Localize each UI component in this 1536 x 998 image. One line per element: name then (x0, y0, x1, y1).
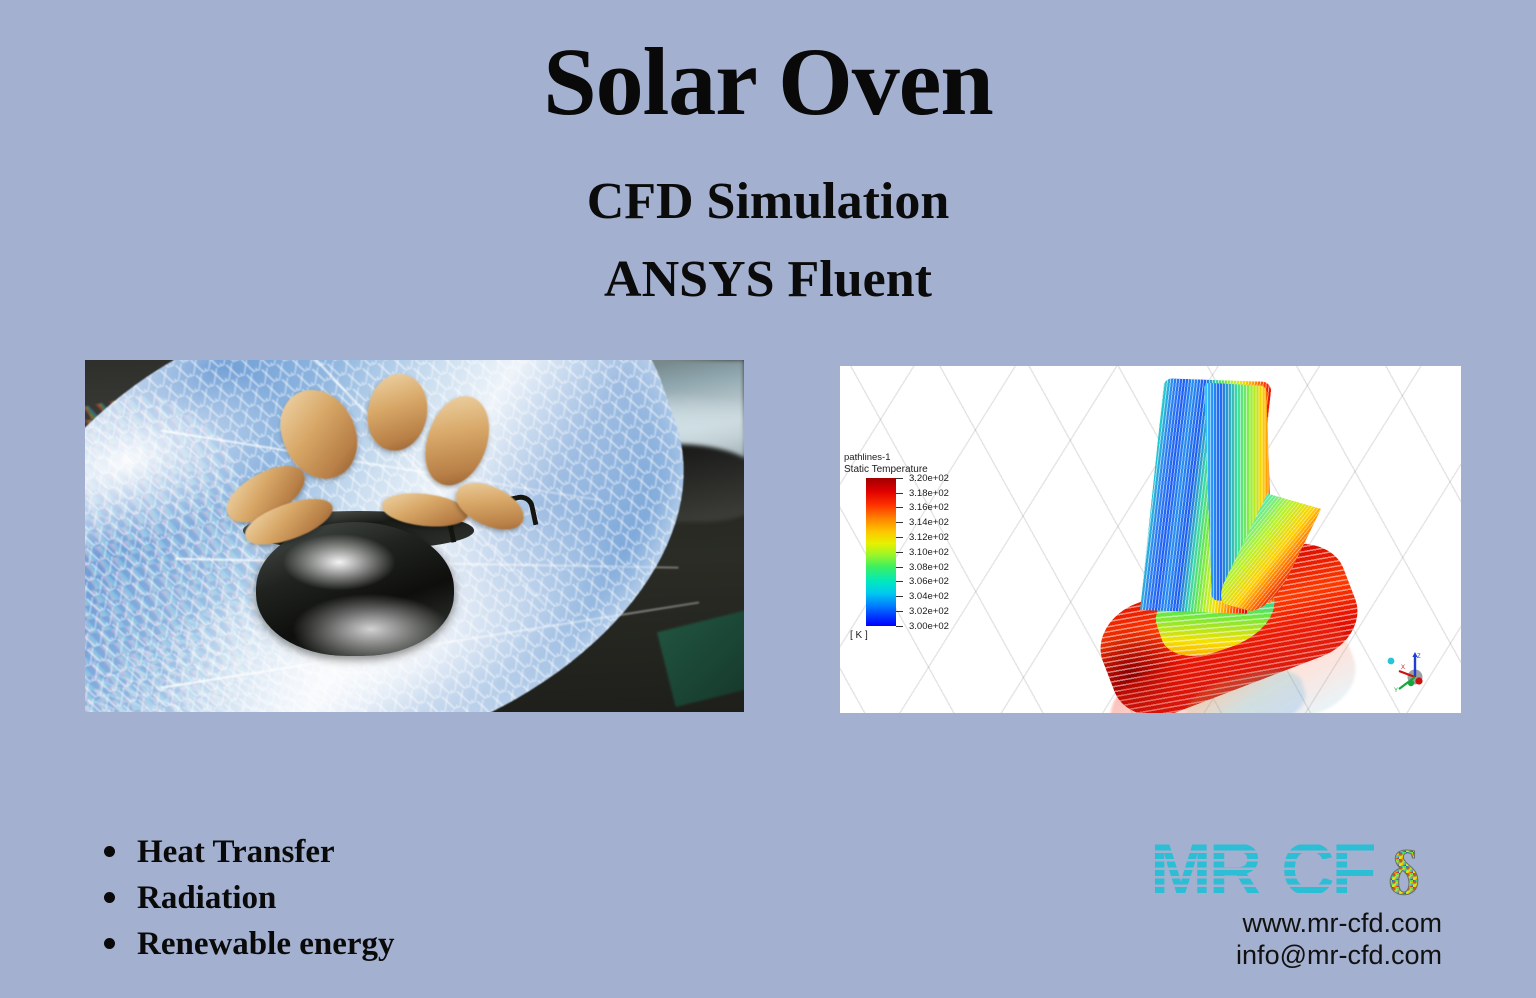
legend-tick-label: 3.18e+02 (909, 488, 949, 499)
legend-tick-label: 3.00e+02 (909, 621, 949, 632)
legend-tick: 3.04e+02 (896, 591, 949, 602)
svg-text:Y: Y (1394, 688, 1398, 694)
list-item: Radiation (104, 882, 395, 915)
email-address[interactable]: info@mr-cfd.com (1150, 940, 1442, 972)
svg-text:Z: Z (1417, 654, 1421, 660)
legend-tick-list: 3.20e+02 3.18e+02 3.16e+02 3.14e+02 3.12… (896, 473, 994, 631)
mr-cfd-logo: MR CF (1150, 836, 1490, 906)
cfd-pathlines-panel: pathlines-1 Static Temperature 3.20e+02 … (840, 366, 1461, 713)
brand-logo-block: MR CF (1150, 836, 1490, 972)
legend-tick-label: 3.02e+02 (909, 606, 949, 617)
logo-text-mr: MR (1150, 836, 1259, 904)
legend-tick-label: 3.08e+02 (909, 562, 949, 573)
tick-dash-icon (896, 596, 903, 597)
legend-tick: 3.16e+02 (896, 502, 949, 513)
legend-body: 3.20e+02 3.18e+02 3.16e+02 3.14e+02 3.12… (844, 478, 994, 626)
legend-tick-label: 3.20e+02 (909, 473, 949, 484)
legend-tick-label: 3.14e+02 (909, 517, 949, 528)
legend-tick: 3.08e+02 (896, 562, 949, 573)
legend-tick: 3.10e+02 (896, 547, 949, 558)
list-item: Renewable energy (104, 928, 395, 961)
axis-triad-icon: Z X Y (1381, 647, 1439, 697)
legend-tick: 3.06e+02 (896, 576, 949, 587)
legend-tick-label: 3.16e+02 (909, 502, 949, 513)
bullet-label: Radiation (137, 882, 276, 915)
legend-tick: 3.20e+02 (896, 473, 949, 484)
legend-tick-label: 3.10e+02 (909, 547, 949, 558)
tick-dash-icon (896, 626, 903, 627)
solar-oven-photo (85, 360, 744, 712)
pathlines-bundle (1090, 376, 1380, 706)
bullet-dot-icon (104, 846, 115, 857)
tick-dash-icon (896, 611, 903, 612)
subtitle-cfd-simulation: CFD Simulation (0, 176, 1536, 228)
legend-tick: 3.14e+02 (896, 517, 949, 528)
list-item: Heat Transfer (104, 836, 395, 869)
legend-tick-label: 3.12e+02 (909, 532, 949, 543)
logo-delta-glyph-icon: δ (1378, 838, 1430, 902)
bullet-label: Heat Transfer (137, 836, 335, 869)
svg-text:δ: δ (1388, 840, 1420, 902)
page-title: Solar Oven (0, 34, 1536, 130)
legend-tick: 3.18e+02 (896, 488, 949, 499)
tick-dash-icon (896, 567, 903, 568)
bullet-dot-icon (104, 892, 115, 903)
logo-text-cf: CF (1281, 836, 1374, 904)
feature-bullet-list: Heat Transfer Radiation Renewable energy (104, 836, 395, 974)
legend-tick: 3.02e+02 (896, 606, 949, 617)
tick-dash-icon (896, 552, 903, 553)
contact-info: www.mr-cfd.com info@mr-cfd.com (1150, 908, 1490, 972)
tick-dash-icon (896, 522, 903, 523)
bullet-label: Renewable energy (137, 928, 395, 961)
title-block: Solar Oven CFD Simulation ANSYS Fluent (0, 34, 1536, 306)
legend-colorbar (866, 478, 896, 626)
tick-dash-icon (896, 581, 903, 582)
legend-tick: 3.12e+02 (896, 532, 949, 543)
photo-scene (85, 360, 744, 712)
bullet-dot-icon (104, 938, 115, 949)
legend-tick-label: 3.04e+02 (909, 591, 949, 602)
legend-tick-label: 3.06e+02 (909, 576, 949, 587)
legend-title: pathlines-1 (844, 452, 994, 464)
svg-text:X: X (1401, 665, 1405, 671)
tick-dash-icon (896, 507, 903, 508)
cooking-pot (256, 522, 454, 656)
tick-dash-icon (896, 478, 903, 479)
tick-dash-icon (896, 537, 903, 538)
slide-canvas: Solar Oven CFD Simulation ANSYS Fluent (0, 0, 1536, 998)
website-url[interactable]: www.mr-cfd.com (1150, 908, 1442, 940)
tick-dash-icon (896, 493, 903, 494)
color-legend: pathlines-1 Static Temperature 3.20e+02 … (844, 452, 994, 641)
legend-tick: 3.00e+02 (896, 621, 949, 632)
subtitle-ansys-fluent: ANSYS Fluent (0, 254, 1536, 306)
